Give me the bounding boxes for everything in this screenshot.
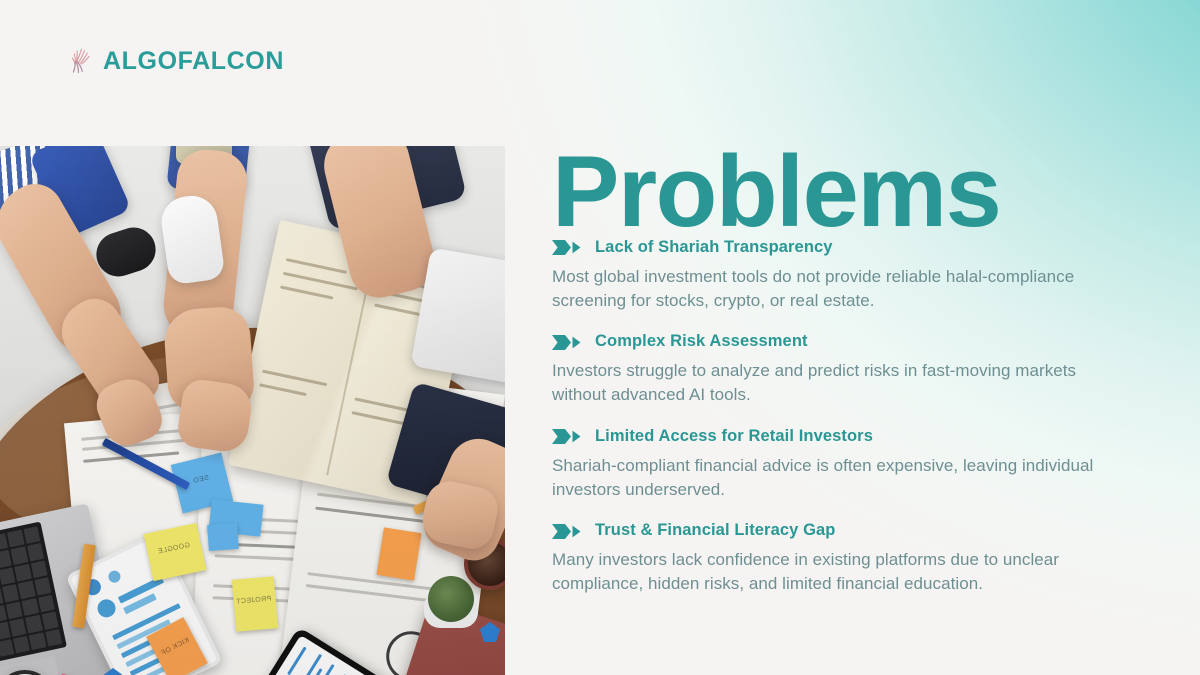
bullet-title: Complex Risk Assessment [595, 332, 808, 352]
bullet-body: Many investors lack confidence in existi… [552, 548, 1122, 597]
sticky-note [376, 527, 421, 580]
brand-name: ALGOFALCON [103, 49, 284, 74]
sticky-note [207, 523, 239, 551]
bullet-body: Shariah-compliant financial advice is of… [552, 454, 1122, 503]
list-item: Lack of Shariah Transparency Most global… [552, 238, 1152, 313]
bullet-title: Trust & Financial Literacy Gap [595, 521, 836, 541]
presentation-slide: ALGOFALCON [0, 0, 1200, 675]
chevron-banner-icon [552, 523, 582, 540]
laptop-keyboard [0, 522, 67, 669]
chevron-banner-icon [552, 239, 582, 256]
succulent-plant [428, 576, 474, 622]
list-item: Complex Risk Assessment Investors strugg… [552, 332, 1152, 407]
bullet-title: Limited Access for Retail Investors [595, 427, 873, 447]
photo-scene: SEO GOOGLE KICK OF PROJECT SOFTWARE TRAF… [0, 146, 505, 675]
bullet-title: Lack of Shariah Transparency [595, 238, 833, 258]
falcon-logo-icon [68, 46, 94, 76]
sticky-note: PROJECT [232, 576, 278, 631]
chevron-banner-icon [552, 428, 582, 445]
meeting-table-photo: SEO GOOGLE KICK OF PROJECT SOFTWARE TRAF… [0, 146, 505, 675]
bullet-heading-row: Lack of Shariah Transparency [552, 238, 1152, 258]
page-title: Problems [552, 142, 1000, 243]
brand-logo[interactable]: ALGOFALCON [68, 46, 284, 76]
list-item: Trust & Financial Literacy Gap Many inve… [552, 521, 1152, 596]
list-item: Limited Access for Retail Investors Shar… [552, 427, 1152, 502]
chevron-banner-icon [552, 334, 582, 351]
bullet-heading-row: Limited Access for Retail Investors [552, 427, 1152, 447]
bullet-heading-row: Trust & Financial Literacy Gap [552, 521, 1152, 541]
problems-list: Lack of Shariah Transparency Most global… [552, 238, 1152, 597]
bullet-body: Most global investment tools do not prov… [552, 265, 1122, 314]
bullet-body: Investors struggle to analyze and predic… [552, 359, 1122, 408]
bullet-heading-row: Complex Risk Assessment [552, 332, 1152, 352]
